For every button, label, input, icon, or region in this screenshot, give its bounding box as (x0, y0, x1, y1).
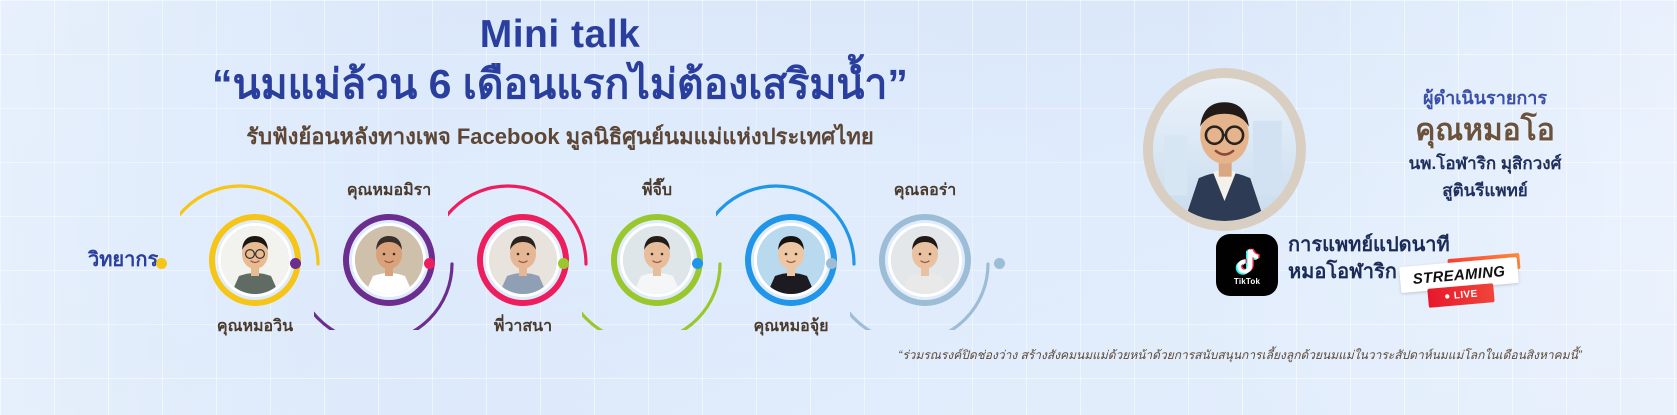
campaign-caption: “ร่วมรณรงค์ปิดช่องว่าง สร้างสังคมนมแม่ด้… (840, 346, 1640, 365)
host-fullname: นพ.โอฬาริก มุสิกวงศ์ (1320, 153, 1650, 176)
speaker-connector-dot-end (994, 258, 1005, 269)
speaker-name-label: คุณลอร่า (894, 178, 957, 203)
host-specialty: สูตินรีแพทย์ (1320, 180, 1650, 203)
speaker-avatar-ring (879, 214, 971, 306)
speaker-node-1: คุณหมอวิน (180, 180, 330, 330)
promo-banner: Mini talk “นมแม่ล้วน 6 เดือนแรกไม่ต้องเส… (0, 0, 1677, 415)
speaker-avatar-ring (209, 214, 301, 306)
speaker-avatar-ring (343, 214, 435, 306)
speaker-node-5: คุณหมอจุ้ย (716, 180, 866, 330)
speaker-node-4: พี่จี๊บ (582, 180, 732, 330)
tiktok-channel-line-1: การแพทย์แปดนาที (1288, 232, 1450, 259)
speaker-connector-dot (558, 258, 569, 269)
speaker-connector-dot (290, 258, 301, 269)
speaker-avatar-image (486, 223, 560, 297)
speaker-avatar-image (352, 223, 426, 297)
headline-block: Mini talk “นมแม่ล้วน 6 เดือนแรกไม่ต้องเส… (0, 14, 1120, 152)
host-role-label: ผู้ดำเนินรายการ (1320, 88, 1650, 110)
speaker-avatar-ring (745, 214, 837, 306)
page-title: Mini talk (0, 14, 1120, 57)
live-label: ● LIVE (1444, 289, 1478, 303)
speaker-avatar-ring (611, 214, 703, 306)
speaker-avatar-image (888, 223, 962, 297)
speaker-name-label: พี่จี๊บ (642, 178, 672, 203)
speaker-connector-dot (156, 258, 167, 269)
host-nickname: คุณหมอโอ (1320, 112, 1650, 150)
talk-topic-title: “นมแม่ล้วน 6 เดือนแรกไม่ต้องเสริมน้ำ” (0, 59, 1120, 110)
speakers-row: คุณหมอวินคุณหมอมิราพี่วาสนาพี่จี๊บคุณหมอ… (0, 180, 1060, 340)
speaker-avatar-image (754, 223, 828, 297)
tiktok-icon[interactable]: TikTok (1216, 234, 1278, 296)
speaker-name-label: คุณหมอมิรา (347, 178, 431, 203)
speaker-connector-dot (424, 258, 435, 269)
tiktok-note-glyph (1230, 245, 1264, 279)
speaker-node-3: พี่วาสนา (448, 180, 598, 330)
streaming-badge-group: STREAMING ● LIVE (1400, 262, 1520, 314)
speaker-connector-dot (826, 258, 837, 269)
host-info: ผู้ดำเนินรายการ คุณหมอโอ นพ.โอฬาริก มุสิ… (1320, 88, 1650, 203)
speaker-connector-dot (692, 258, 703, 269)
replay-subtitle: รับฟังย้อนหลังทางเพจ Facebook มูลนิธิศูน… (0, 123, 1120, 152)
host-avatar-image (1153, 78, 1296, 221)
speaker-avatar-image (620, 223, 694, 297)
speaker-avatar-ring (477, 214, 569, 306)
host-avatar (1143, 68, 1306, 231)
speaker-name-label: คุณหมอวิน (217, 314, 293, 339)
speaker-name-label: พี่วาสนา (494, 314, 552, 339)
speaker-name-label: คุณหมอจุ้ย (754, 314, 829, 339)
speaker-avatar-image (218, 223, 292, 297)
speaker-node-2: คุณหมอมิรา (314, 180, 464, 330)
speaker-node-6: คุณลอร่า (850, 180, 1000, 330)
host-portrait-illustration (1153, 78, 1296, 221)
